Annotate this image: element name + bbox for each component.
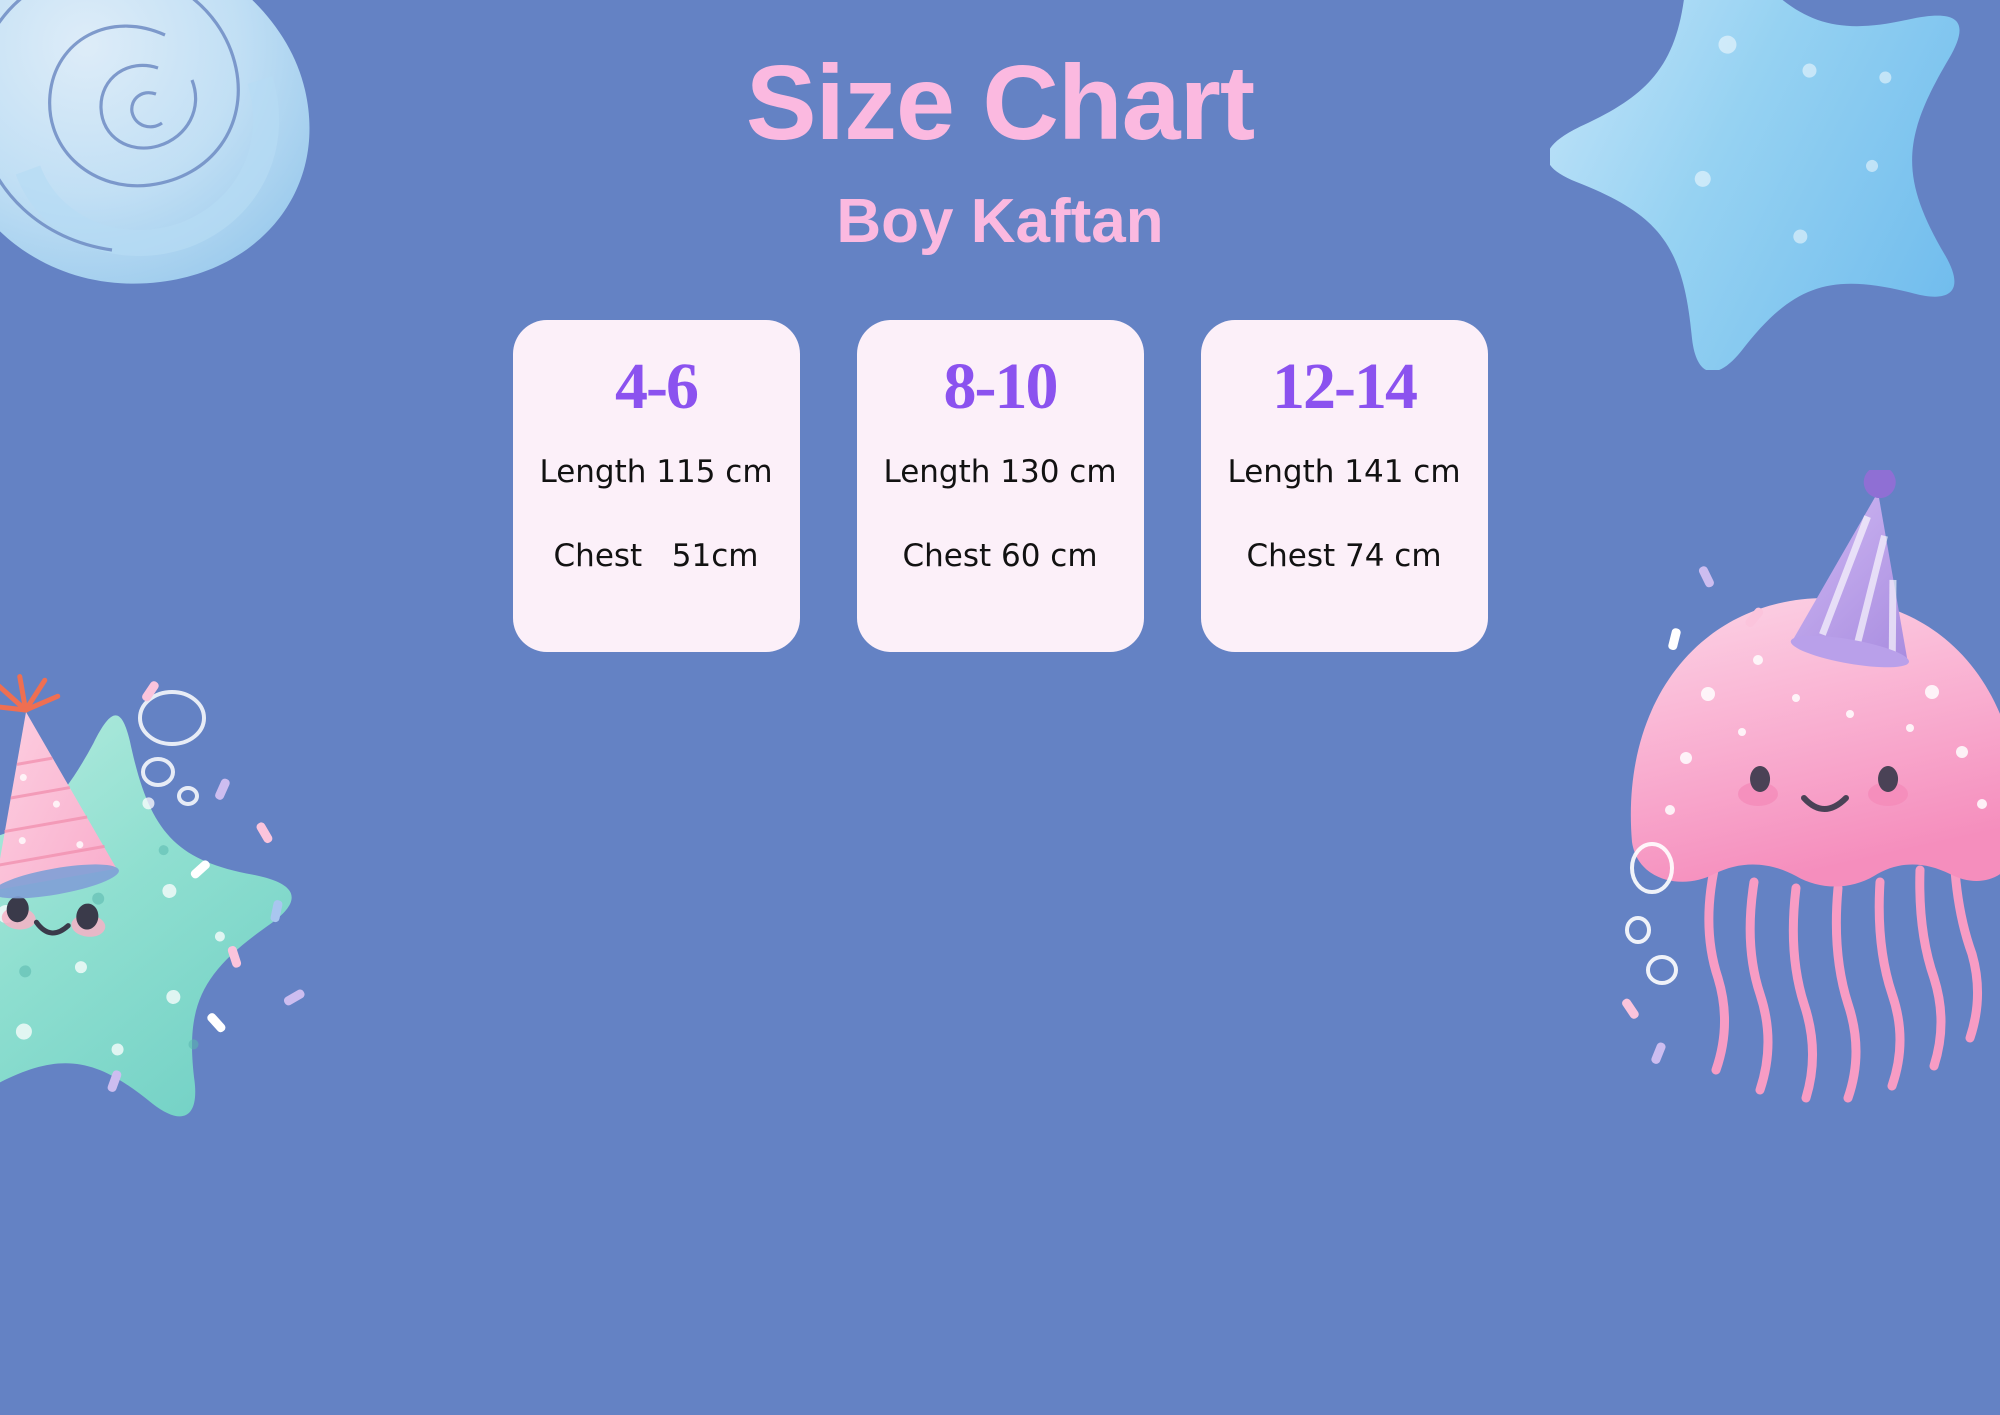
size-card-list: 4-6 Length 115 cm Chest 51cm 8-10 Length… — [0, 320, 2000, 652]
size-card-range: 4-6 — [615, 344, 697, 430]
size-card: 4-6 Length 115 cm Chest 51cm — [513, 320, 800, 652]
size-card: 8-10 Length 130 cm Chest 60 cm — [857, 320, 1144, 652]
page-title: Size Chart — [0, 48, 2000, 159]
size-card-chest: Chest 74 cm — [1246, 538, 1441, 574]
size-card-chest: Chest 51cm — [554, 538, 759, 574]
page-subtitle: Boy Kaftan — [0, 186, 2000, 257]
size-card-range: 8-10 — [944, 344, 1057, 430]
size-card-length: Length 130 cm — [883, 454, 1116, 490]
poster-canvas: Size Chart Boy Kaftan 4-6 Length 115 cm … — [0, 0, 2000, 1415]
size-card-length: Length 141 cm — [1227, 454, 1460, 490]
size-card: 12-14 Length 141 cm Chest 74 cm — [1201, 320, 1488, 652]
size-card-length: Length 115 cm — [539, 454, 772, 490]
starfish-teal-party-hat-icon — [0, 600, 380, 1120]
size-card-chest: Chest 60 cm — [902, 538, 1097, 574]
size-card-range: 12-14 — [1272, 344, 1416, 430]
